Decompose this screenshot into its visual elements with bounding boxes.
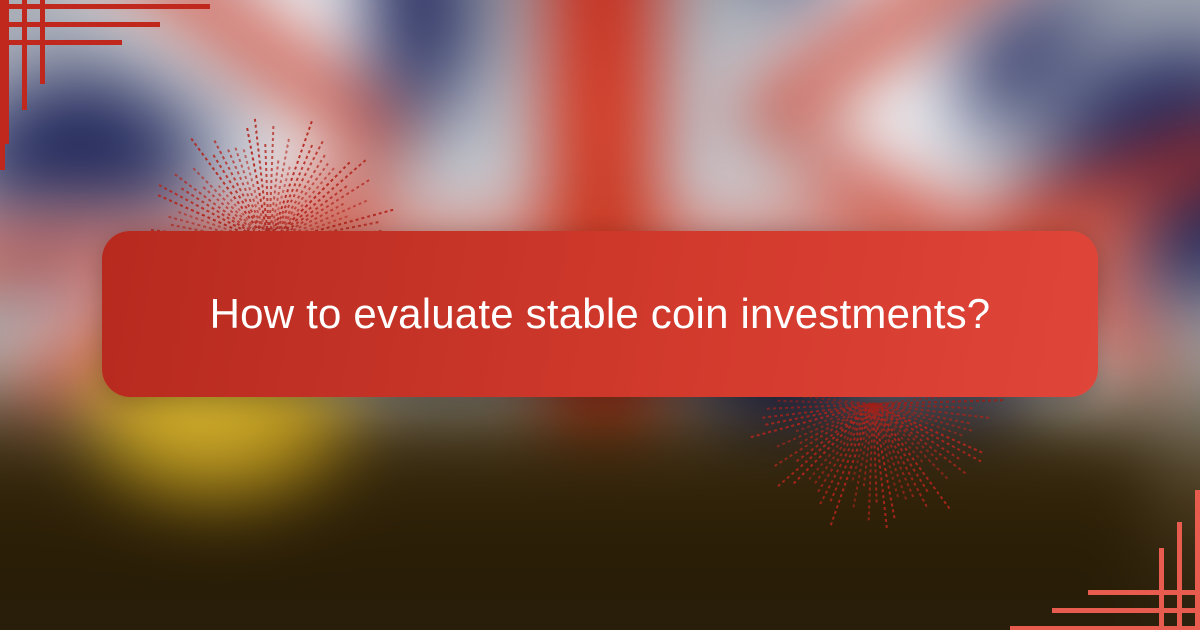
page-title: How to evaluate stable coin investments? bbox=[210, 288, 991, 339]
share-card-canvas: How to evaluate stable coin investments? bbox=[0, 0, 1200, 630]
headline-banner: How to evaluate stable coin investments? bbox=[102, 231, 1098, 397]
